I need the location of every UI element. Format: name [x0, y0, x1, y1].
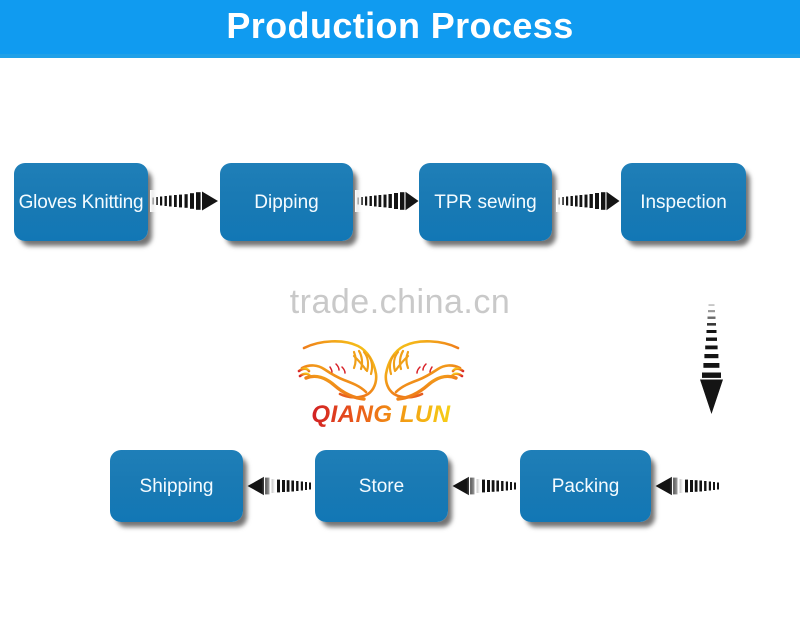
process-box-tpr-sewing[interactable]: TPR sewing — [419, 163, 552, 241]
striped-arrow-icon — [653, 475, 721, 497]
process-box-label: Packing — [552, 477, 620, 496]
striped-arrow-icon — [696, 298, 726, 418]
process-box-label: Shipping — [140, 477, 214, 496]
brand-logo: QIANG LUN — [296, 330, 466, 430]
striped-arrow-icon — [150, 190, 220, 212]
header-underline — [0, 54, 800, 58]
striped-arrow-icon — [556, 190, 621, 212]
process-box-label: TPR sewing — [434, 193, 536, 212]
watermark: trade.china.cn — [0, 283, 800, 322]
logo-brand-text: QIANG LUN — [311, 401, 450, 428]
process-box-gloves-knitting[interactable]: Gloves Knitting — [14, 163, 148, 241]
striped-arrow-icon — [355, 190, 420, 212]
header-banner: Production Process — [0, 0, 800, 58]
page-title: Production Process — [0, 0, 800, 52]
process-box-label: Store — [359, 477, 404, 496]
process-box-label: Gloves Knitting — [19, 193, 144, 212]
process-box-dipping[interactable]: Dipping — [220, 163, 353, 241]
process-box-inspection[interactable]: Inspection — [621, 163, 746, 241]
process-box-label: Dipping — [254, 193, 318, 212]
process-box-store[interactable]: Store — [315, 450, 448, 522]
process-box-packing[interactable]: Packing — [520, 450, 651, 522]
striped-arrow-icon — [245, 475, 313, 497]
striped-arrow-icon — [450, 475, 518, 497]
process-box-label: Inspection — [640, 193, 727, 212]
process-box-shipping[interactable]: Shipping — [110, 450, 243, 522]
